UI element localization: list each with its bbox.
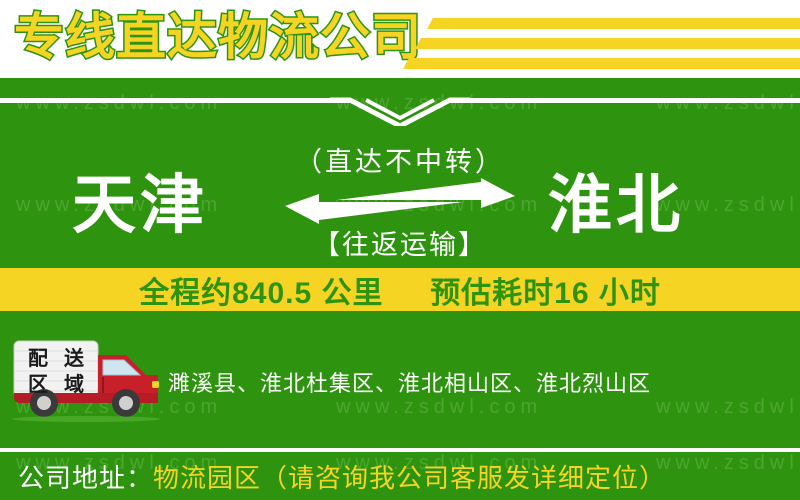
truck-badge-char-1: 送 (64, 346, 85, 370)
slogan-roundtrip: 【往返运输】 (0, 223, 800, 262)
delivery-areas-text: 濉溪县、淮北杜集区、淮北相山区、淮北烈山区 (168, 366, 651, 398)
top-rule-right (450, 98, 800, 103)
address-bar: 公司地址： 物流园区（请咨询我公司客服发详细定位） (0, 452, 800, 500)
header-stripe-3 (403, 58, 800, 69)
logistics-banner: 专线直达物流公司 www.zsdwl.comwww.zsdwl.comwww.z… (0, 0, 800, 500)
duration-label: 预估耗时16 小时 (430, 277, 661, 310)
distance-duration-band: 全程约840.5 公里 预估耗时16 小时 (0, 268, 800, 311)
header-stripe-2 (415, 38, 800, 49)
header-stripe-1 (427, 18, 800, 29)
truck-badge-char-3: 域 (64, 372, 84, 396)
bidirectional-arrow-icon (285, 178, 515, 224)
truck-badge-char-2: 区 (28, 374, 48, 396)
truck-badge-char-0: 配 (28, 347, 48, 370)
address-value: 物流园区（请咨询我公司客服发详细定位） (153, 458, 666, 495)
distance-duration-text: 全程约840.5 公里 预估耗时16 小时 (139, 268, 661, 312)
main-green-panel: www.zsdwl.comwww.zsdwl.comwww.zsdwl.comw… (0, 78, 800, 500)
watermark-text: www.zsdwl.com (16, 92, 222, 115)
top-rule-left (0, 98, 350, 103)
address-label: 公司地址： (18, 458, 153, 495)
delivery-truck-icon: 配 送 区 域 (6, 333, 166, 423)
slogan-direct: （直达不中转） (0, 140, 800, 179)
chevron-down-icon (330, 86, 470, 126)
watermark-text: www.zsdwl.com (336, 396, 542, 419)
distance-label: 全程约840.5 公里 (139, 277, 383, 310)
watermark-text: www.zsdwl.com (656, 396, 800, 419)
company-title: 专线直达物流公司 (14, 6, 422, 68)
banner-header: 专线直达物流公司 (0, 0, 800, 78)
watermark-text: www.zsdwl.com (656, 92, 800, 115)
